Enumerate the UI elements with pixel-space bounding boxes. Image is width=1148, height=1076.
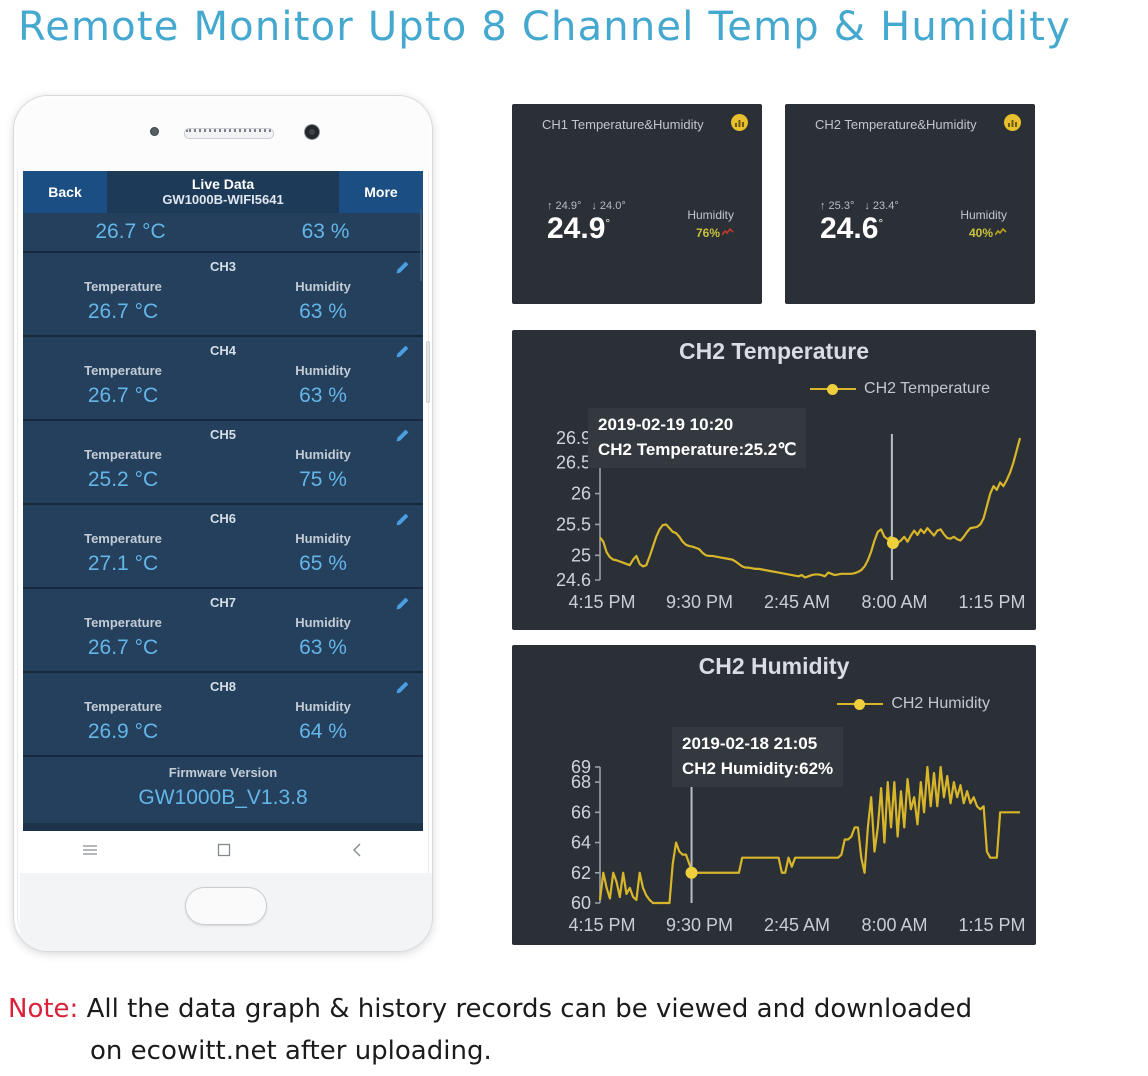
scrollbar[interactable] bbox=[420, 209, 422, 281]
svg-text:26.5: 26.5 bbox=[556, 453, 591, 473]
tile-humidity-label: Humidity bbox=[687, 208, 734, 222]
tooltip-timestamp: 2019-02-19 10:20 bbox=[598, 412, 796, 437]
edit-pencil-icon[interactable] bbox=[394, 512, 410, 528]
phone-bottom-bezel bbox=[20, 873, 432, 951]
humidity-value: 65 % bbox=[223, 549, 423, 579]
svg-text:4:15 PM: 4:15 PM bbox=[568, 592, 635, 612]
app-title-block: Live Data GW1000B-WIFI5641 bbox=[107, 171, 339, 213]
edit-pencil-icon[interactable] bbox=[394, 680, 410, 696]
channel-row[interactable]: CH7Temperature26.7 °CHumidity63 % bbox=[23, 589, 423, 673]
sensor-dot-icon bbox=[150, 127, 159, 136]
firmware-value: GW1000B_V1.3.8 bbox=[23, 783, 423, 813]
chart-tooltip: 2019-02-18 21:05 CH2 Humidity:62% bbox=[672, 727, 843, 787]
channel-name: CH3 bbox=[23, 258, 423, 276]
humidity-value: 64 % bbox=[223, 717, 423, 747]
channel-list: CH3Temperature26.7 °CHumidity63 %CH4Temp… bbox=[23, 253, 423, 757]
phone-top-bezel bbox=[17, 99, 429, 171]
temperature-label: Temperature bbox=[23, 276, 223, 297]
chart-card-ch2-humidity[interactable]: CH2 Humidity CH2 Humidity 6062646668694:… bbox=[512, 645, 1036, 945]
note-line-2: on ecowitt.net after uploading. bbox=[8, 1030, 1148, 1072]
svg-text:1:15 PM: 1:15 PM bbox=[958, 592, 1025, 612]
humidity-label: Humidity bbox=[223, 360, 423, 381]
svg-text:66: 66 bbox=[571, 802, 591, 822]
phone-mockup: Back Live Data GW1000B-WIFI5641 More 26.… bbox=[14, 96, 432, 951]
humidity-label: Humidity bbox=[223, 528, 423, 549]
temperature-value: 26.7 °C bbox=[23, 297, 223, 327]
svg-text:9:30 PM: 9:30 PM bbox=[666, 592, 733, 612]
note-line-1: All the data graph & history records can… bbox=[87, 994, 973, 1024]
channel-row[interactable]: CH8Temperature26.9 °CHumidity64 % bbox=[23, 673, 423, 757]
svg-text:9:30 PM: 9:30 PM bbox=[666, 915, 733, 935]
channel-name: CH5 bbox=[23, 426, 423, 444]
front-camera-icon bbox=[305, 125, 319, 139]
temperature-label: Temperature bbox=[23, 528, 223, 549]
back-button[interactable]: Back bbox=[23, 171, 107, 213]
tile-max-value: ↑ 25.3° bbox=[820, 200, 854, 212]
tile-card-ch1[interactable]: CH1 Temperature&Humidity ↑ 24.9°↓ 24.0° … bbox=[512, 104, 762, 304]
chart-badge-icon[interactable] bbox=[731, 114, 748, 131]
channel-name: CH4 bbox=[23, 342, 423, 360]
temperature-value: 26.7 °C bbox=[23, 633, 223, 663]
temperature-label: Temperature bbox=[23, 612, 223, 633]
note-block: Note: All the data graph & history recor… bbox=[8, 988, 1148, 1072]
chart-plot-area[interactable]: 6062646668694:15 PM9:30 PM2:45 AM8:00 AM… bbox=[512, 645, 1036, 945]
edit-pencil-icon[interactable] bbox=[394, 428, 410, 444]
tile-current-temperature: 24.6° bbox=[820, 212, 883, 246]
humidity-value: 63 % bbox=[223, 633, 423, 663]
tile-humidity-value: 76% bbox=[696, 226, 734, 240]
chart-plot-area[interactable]: 24.62525.52626.526.94:15 PM9:30 PM2:45 A… bbox=[512, 330, 1036, 630]
edit-pencil-icon[interactable] bbox=[394, 596, 410, 612]
page-title: Remote Monitor Upto 8 Channel Temp & Hum… bbox=[18, 4, 1128, 50]
svg-text:2:45 AM: 2:45 AM bbox=[764, 915, 830, 935]
tile-minmax: ↑ 25.3°↓ 23.4° bbox=[820, 200, 899, 212]
phone-screen: Back Live Data GW1000B-WIFI5641 More 26.… bbox=[23, 171, 423, 831]
svg-text:2:45 AM: 2:45 AM bbox=[764, 592, 830, 612]
svg-text:8:00 AM: 8:00 AM bbox=[861, 915, 927, 935]
home-button[interactable] bbox=[185, 887, 267, 925]
svg-text:26.9: 26.9 bbox=[556, 428, 591, 448]
tile-title: CH1 Temperature&Humidity bbox=[542, 117, 704, 132]
more-button[interactable]: More bbox=[339, 171, 423, 213]
partial-humidity-value: 63 % bbox=[228, 220, 423, 244]
humidity-label: Humidity bbox=[223, 276, 423, 297]
svg-text:64: 64 bbox=[571, 833, 591, 853]
chart-tooltip: 2019-02-19 10:20 CH2 Temperature:25.2℃ bbox=[588, 408, 806, 468]
tooltip-timestamp: 2019-02-18 21:05 bbox=[682, 731, 833, 756]
svg-text:4:15 PM: 4:15 PM bbox=[568, 915, 635, 935]
trend-icon bbox=[722, 226, 734, 240]
channel-name: CH6 bbox=[23, 510, 423, 528]
temperature-label: Temperature bbox=[23, 444, 223, 465]
device-name: GW1000B-WIFI5641 bbox=[162, 192, 283, 208]
svg-text:24.6: 24.6 bbox=[556, 570, 591, 590]
tooltip-value: CH2 Temperature:25.2℃ bbox=[598, 437, 796, 462]
humidity-value: 63 % bbox=[223, 381, 423, 411]
power-button[interactable] bbox=[426, 341, 430, 403]
tile-humidity-label: Humidity bbox=[960, 208, 1007, 222]
edit-pencil-icon[interactable] bbox=[394, 344, 410, 360]
phone-body: Back Live Data GW1000B-WIFI5641 More 26.… bbox=[17, 99, 429, 948]
channel-row-partial[interactable]: 26.7 °C 63 % bbox=[23, 213, 423, 253]
menu-icon[interactable] bbox=[81, 841, 99, 864]
tile-current-temperature: 24.9° bbox=[547, 212, 610, 246]
note-keyword: Note: bbox=[8, 994, 78, 1024]
tile-max-value: ↑ 24.9° bbox=[547, 200, 581, 212]
svg-text:1:15 PM: 1:15 PM bbox=[958, 915, 1025, 935]
edit-pencil-icon[interactable] bbox=[394, 260, 410, 276]
humidity-value: 75 % bbox=[223, 465, 423, 495]
temperature-value: 27.1 °C bbox=[23, 549, 223, 579]
svg-text:60: 60 bbox=[571, 893, 591, 913]
app-title: Live Data bbox=[192, 176, 254, 192]
tile-minmax: ↑ 24.9°↓ 24.0° bbox=[547, 200, 626, 212]
app-bar: Back Live Data GW1000B-WIFI5641 More bbox=[23, 171, 423, 213]
tile-card-ch2[interactable]: CH2 Temperature&Humidity ↑ 25.3°↓ 23.4° … bbox=[785, 104, 1035, 304]
partial-temperature-value: 26.7 °C bbox=[23, 220, 228, 244]
chart-badge-icon[interactable] bbox=[1004, 114, 1021, 131]
svg-text:25.5: 25.5 bbox=[556, 514, 591, 534]
tile-min-value: ↓ 23.4° bbox=[864, 200, 898, 212]
svg-text:69: 69 bbox=[571, 757, 591, 777]
humidity-label: Humidity bbox=[223, 444, 423, 465]
channel-row[interactable]: CH3Temperature26.7 °CHumidity63 % bbox=[23, 253, 423, 337]
trend-icon bbox=[995, 226, 1007, 240]
temperature-label: Temperature bbox=[23, 360, 223, 381]
svg-text:8:00 AM: 8:00 AM bbox=[861, 592, 927, 612]
svg-text:26: 26 bbox=[571, 484, 591, 504]
home-square-icon[interactable] bbox=[216, 842, 232, 863]
tile-humidity-value: 40% bbox=[969, 226, 1007, 240]
chart-card-ch2-temperature[interactable]: CH2 Temperature CH2 Temperature 24.62525… bbox=[512, 330, 1036, 630]
channel-name: CH8 bbox=[23, 678, 423, 696]
firmware-row: Firmware Version GW1000B_V1.3.8 bbox=[23, 757, 423, 823]
channel-name: CH7 bbox=[23, 594, 423, 612]
earpiece-speaker-icon bbox=[184, 128, 274, 139]
back-chevron-icon[interactable] bbox=[349, 841, 365, 864]
channel-row[interactable]: CH4Temperature26.7 °CHumidity63 % bbox=[23, 337, 423, 421]
channel-row[interactable]: CH5Temperature25.2 °CHumidity75 % bbox=[23, 421, 423, 505]
tile-min-value: ↓ 24.0° bbox=[591, 200, 625, 212]
temperature-value: 26.9 °C bbox=[23, 717, 223, 747]
tile-title: CH2 Temperature&Humidity bbox=[815, 117, 977, 132]
svg-text:62: 62 bbox=[571, 863, 591, 883]
temperature-value: 26.7 °C bbox=[23, 381, 223, 411]
humidity-label: Humidity bbox=[223, 612, 423, 633]
android-navigation-bar bbox=[23, 831, 423, 873]
channel-row[interactable]: CH6Temperature27.1 °CHumidity65 % bbox=[23, 505, 423, 589]
svg-text:25: 25 bbox=[571, 545, 591, 565]
humidity-label: Humidity bbox=[223, 696, 423, 717]
temperature-label: Temperature bbox=[23, 696, 223, 717]
firmware-label: Firmware Version bbox=[23, 763, 423, 783]
temperature-value: 25.2 °C bbox=[23, 465, 223, 495]
humidity-value: 63 % bbox=[223, 297, 423, 327]
tooltip-value: CH2 Humidity:62% bbox=[682, 756, 833, 781]
